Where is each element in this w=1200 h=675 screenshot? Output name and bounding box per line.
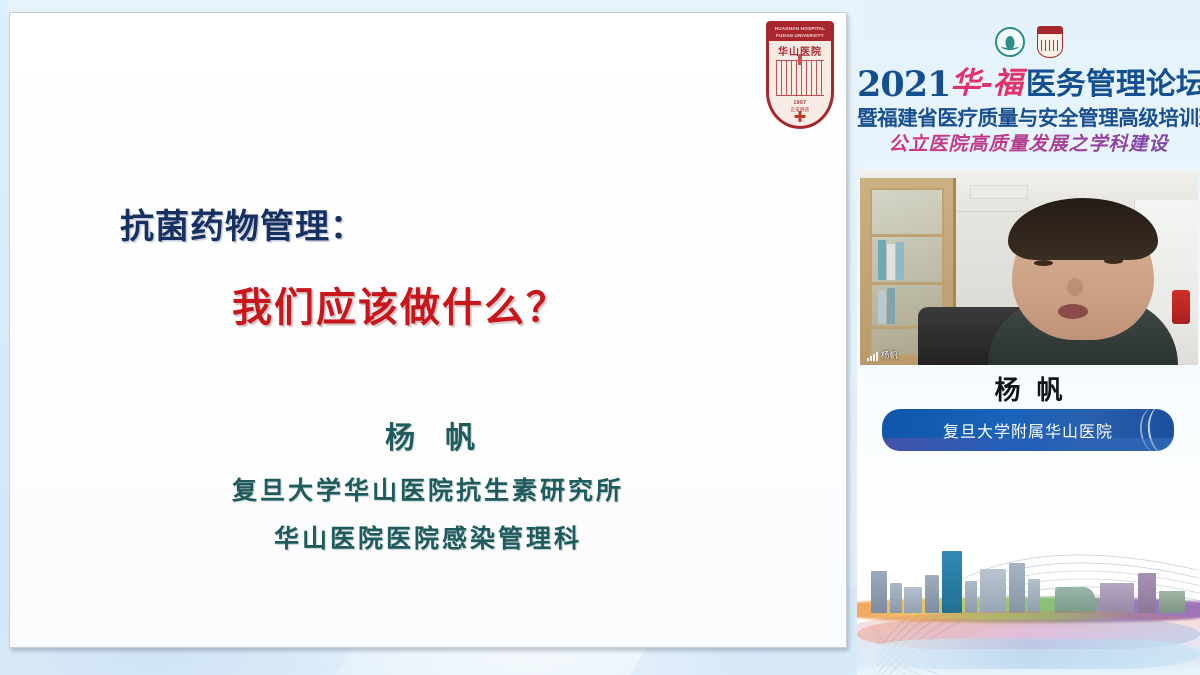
shield-english-line1: HUASHAN HOSPITAL xyxy=(769,25,831,32)
medical-cross-icon xyxy=(795,111,806,122)
organizer-logos-row xyxy=(857,26,1200,58)
video-red-object xyxy=(1172,290,1190,324)
event-headline: 2021华-福医务管理论坛 xyxy=(857,58,1200,105)
shield-building-illustration xyxy=(776,60,824,96)
slide-stage: HUASHAN HOSPITAL FUDAN UNIVERSITY 华山医院 1… xyxy=(0,0,857,675)
video-participant-name: 杨帆 xyxy=(881,349,898,361)
event-year: 2021 xyxy=(857,64,950,105)
slide-affiliation-line1: 复旦大学华山医院抗生素研究所 xyxy=(10,471,846,507)
signal-bars-icon xyxy=(867,352,878,361)
slide-affiliation-line2: 华山医院医院感染管理科 xyxy=(10,519,846,555)
event-forum-name: 医务管理论坛 xyxy=(1026,67,1200,102)
huashan-hospital-logo-icon xyxy=(1037,26,1063,58)
speaker-affiliation-banner: 复旦大学附属华山医院 xyxy=(882,409,1174,451)
slide-title-question: 我们应该做什么？ xyxy=(232,275,568,333)
fujian-medical-association-logo-icon xyxy=(995,27,1025,57)
speaker-affiliation-text: 复旦大学附属华山医院 xyxy=(943,418,1113,442)
shield-founded-year: 1907 xyxy=(769,100,831,106)
screen-root: HUASHAN HOSPITAL FUDAN UNIVERSITY 华山医院 1… xyxy=(0,0,1200,675)
slide-title-primary: 抗菌药物管理： xyxy=(120,199,365,248)
city-skyline-illustration xyxy=(857,470,1200,675)
event-tagline: 公立医院高质量发展之学科建设 xyxy=(857,129,1200,156)
event-script-mark: 华-福 xyxy=(950,66,1022,101)
event-subtitle: 暨福建省医疗质量与安全管理高级培训班 xyxy=(857,101,1200,131)
presentation-slide[interactable]: HUASHAN HOSPITAL FUDAN UNIVERSITY 华山医院 1… xyxy=(9,12,847,648)
video-participant-label: 杨帆 xyxy=(864,348,901,362)
speaker-name: 杨帆 xyxy=(857,370,1200,407)
wave-decoration-2 xyxy=(857,639,1200,669)
shield-english-line2: FUDAN UNIVERSITY xyxy=(769,32,831,39)
huashan-hospital-shield-icon: HUASHAN HOSPITAL FUDAN UNIVERSITY 华山医院 1… xyxy=(766,21,834,129)
slide-author-name: 杨帆 xyxy=(10,413,846,457)
stage-left-strip xyxy=(0,0,8,675)
banner-arc-decoration-2 xyxy=(1137,409,1174,451)
speaker-video-feed[interactable]: 杨帆 xyxy=(860,170,1198,365)
